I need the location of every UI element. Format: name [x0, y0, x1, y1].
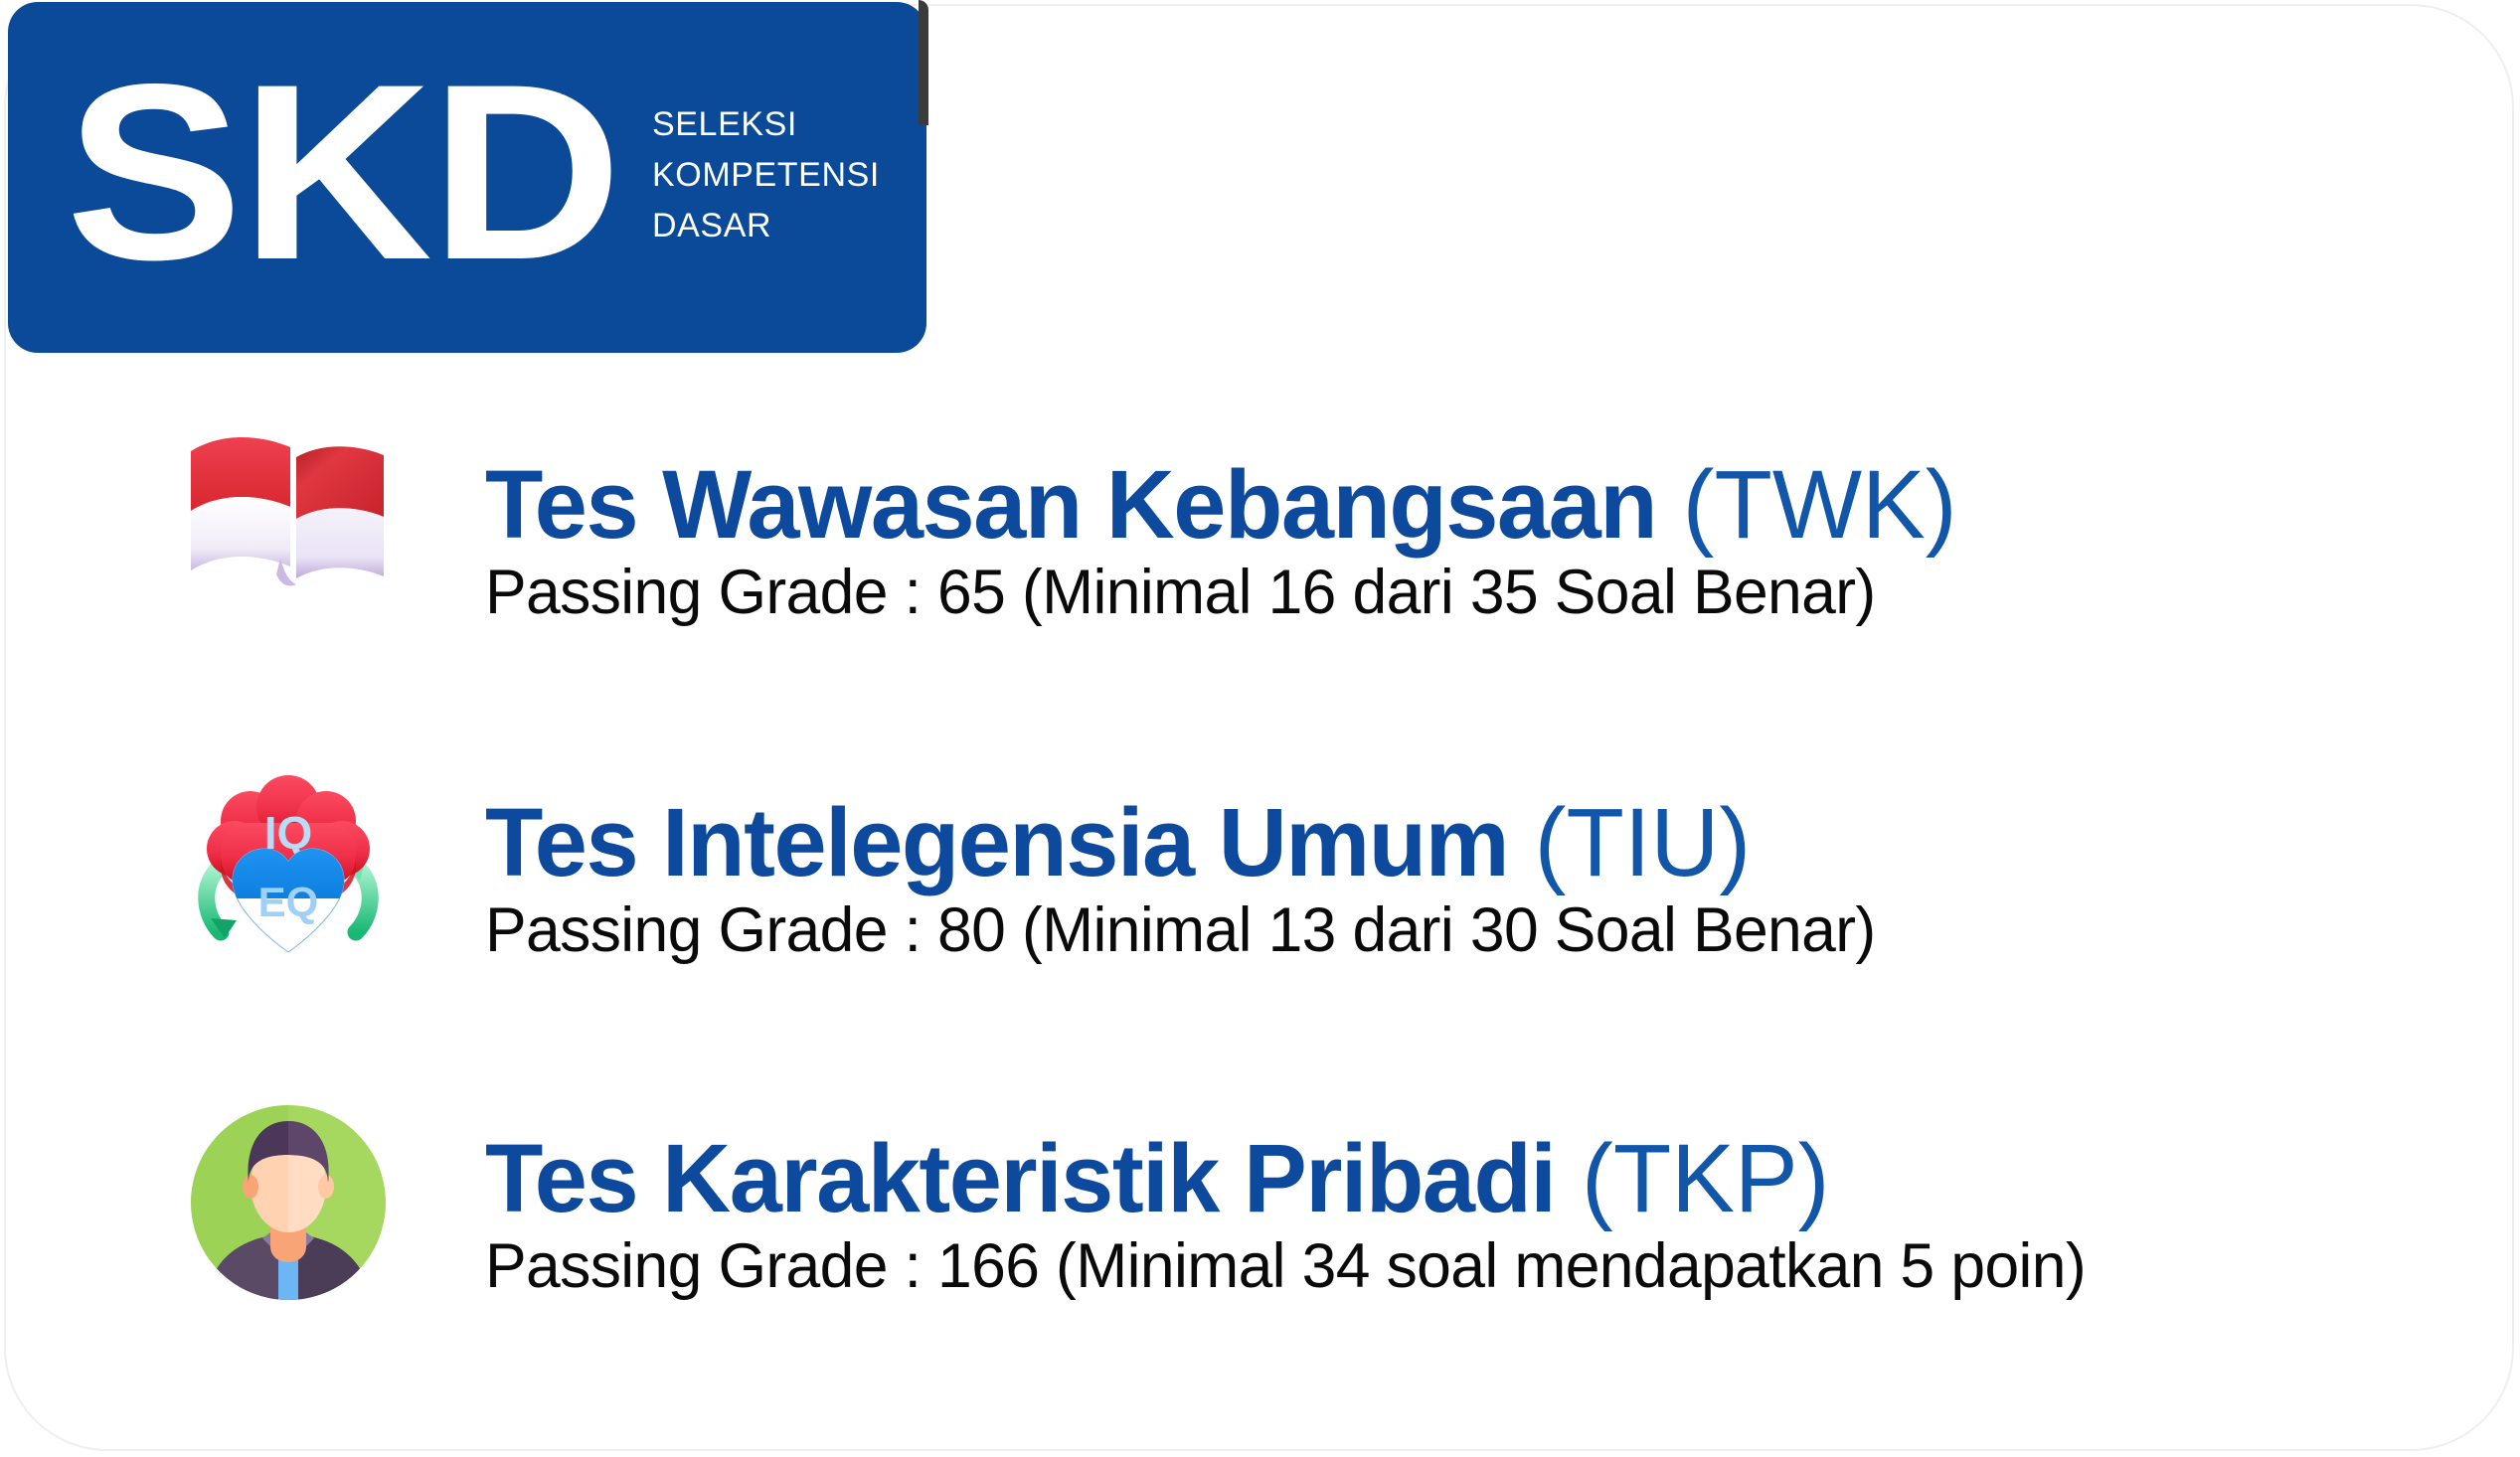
indonesia-flag-icon [185, 425, 392, 632]
badge-edge-artifact [919, 0, 928, 125]
tiu-text-block: Tes Intelegensia Umum (TIU) Passing Grad… [485, 755, 1890, 968]
twk-title-abbr: (TWK) [1656, 450, 1956, 559]
test-row-tiu: IQ EQ Tes Intelegensia Umum (TIU) Passin… [0, 755, 2520, 1004]
twk-text-block: Tes Wawasan Kebangsaan (TWK) Passing Gra… [485, 417, 1979, 630]
tkp-passing-grade: Passing Grade : 166 (Minimal 34 soal men… [485, 1228, 2086, 1304]
tiu-title: Tes Intelegensia Umum (TIU) [485, 755, 1869, 892]
tiu-title-abbr: (TIU) [1508, 788, 1751, 896]
tiu-title-main: Tes Intelegensia Umum [485, 788, 1508, 896]
test-row-tkp: Tes Karakteristik Pribadi (TKP) Passing … [0, 1091, 2520, 1340]
brain-eq-label: EQ [258, 879, 319, 925]
skd-subtitle-line-2: KOMPETENSI [652, 150, 911, 201]
skd-infographic-canvas: SKD SELEKSI KOMPETENSI DASAR [0, 0, 2520, 1457]
tiu-passing-grade: Passing Grade : 80 (Minimal 13 dari 30 S… [485, 892, 1876, 968]
person-avatar-icon [185, 1099, 392, 1306]
twk-passing-grade: Passing Grade : 65 (Minimal 16 dari 35 S… [485, 555, 1964, 630]
tkp-title-main: Tes Karakteristik Pribadi [485, 1124, 1555, 1232]
test-row-twk: Tes Wawasan Kebangsaan (TWK) Passing Gra… [0, 417, 2520, 666]
iq-eq-brain-icon: IQ EQ [185, 763, 392, 970]
skd-logo-badge: SKD SELEKSI KOMPETENSI DASAR [8, 2, 926, 353]
skd-subtitle-line-1: SELEKSI [652, 99, 911, 150]
twk-title: Tes Wawasan Kebangsaan (TWK) [485, 417, 1957, 555]
tkp-title-abbr: (TKP) [1555, 1124, 1829, 1232]
skd-subtitle-line-3: DASAR [652, 201, 911, 251]
skd-acronym: SKD [66, 48, 620, 298]
skd-subtitle-block: SELEKSI KOMPETENSI DASAR [652, 99, 911, 251]
tkp-title: Tes Karakteristik Pribadi (TKP) [485, 1091, 2078, 1228]
tkp-text-block: Tes Karakteristik Pribadi (TKP) Passing … [485, 1091, 2101, 1304]
twk-title-main: Tes Wawasan Kebangsaan [485, 450, 1656, 559]
